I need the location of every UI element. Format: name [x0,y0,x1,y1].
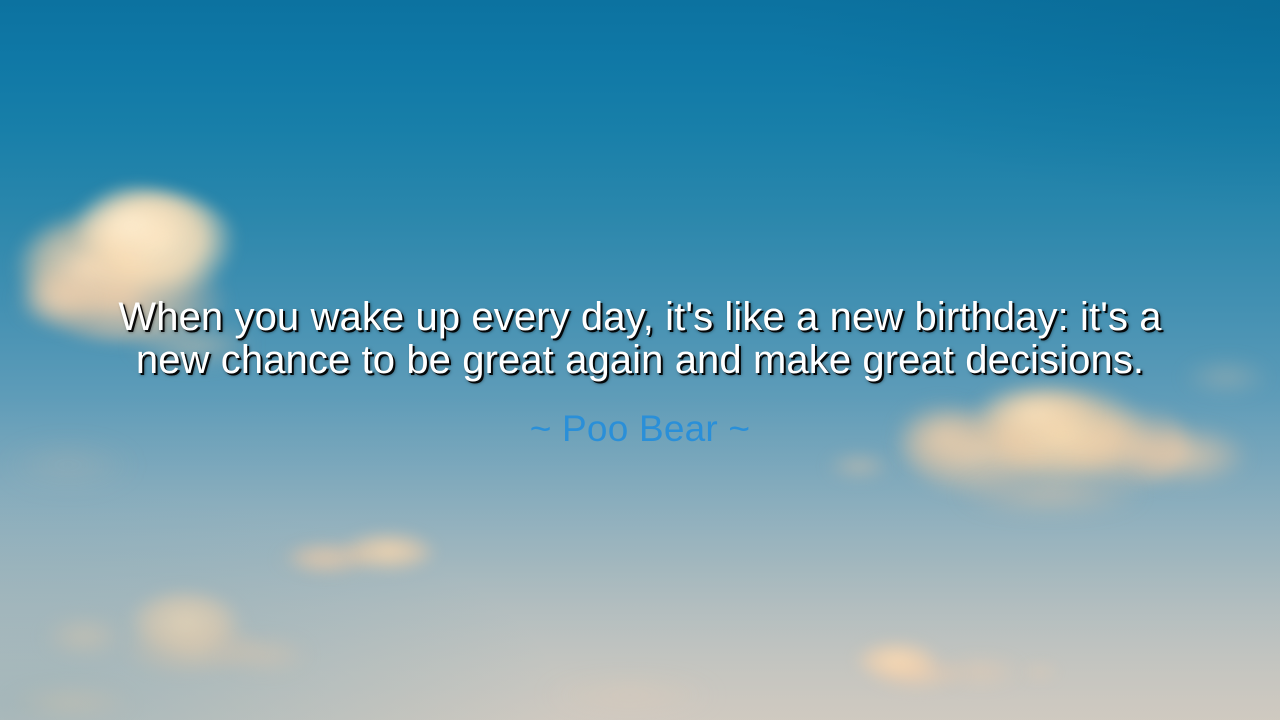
text-layer: When you wake up every day, it's like a … [0,0,1280,720]
quote-text: When you wake up every day, it's like a … [105,296,1175,382]
quote-attribution: ~ Poo Bear ~ [240,408,1040,450]
quote-image-card: When you wake up every day, it's like a … [0,0,1280,720]
